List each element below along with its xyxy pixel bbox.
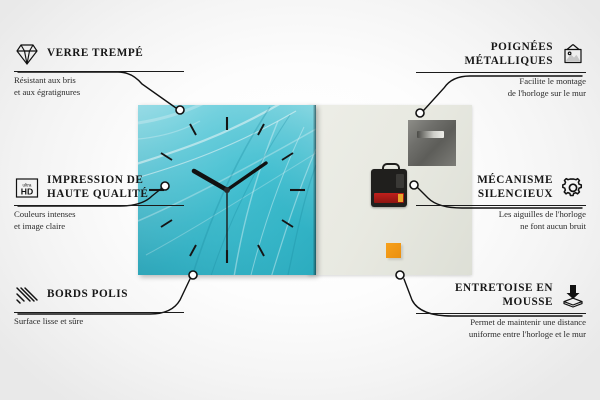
feature-impression-hd[interactable]: ultra HD IMPRESSION DE HAUTE QUALITÉ Cou… [14,174,184,232]
feature-subtitle: Résistant aux bris et aux égratignures [14,75,184,98]
feature-subtitle: Permet de maintenir une distance uniform… [416,317,586,340]
divider [14,71,184,72]
connector-dot-bords-polis [189,271,197,279]
feature-title: BORDS POLIS [47,288,128,302]
feature-title: ENTRETOISE EN MOUSSE [416,282,553,309]
divider [416,205,586,206]
divider [416,313,586,314]
connector-dot-poignees [416,109,424,117]
feature-subtitle: Facilite le montage de l'horloge sur le … [416,76,586,99]
feature-title: IMPRESSION DE HAUTE QUALITÉ [47,174,184,201]
connector-dot-entretoise [396,271,404,279]
infographic-canvas: VERRE TREMPÉ Résistant aux bris et aux é… [0,0,600,400]
down-arrow [567,285,580,299]
feature-verre-trempe[interactable]: VERRE TREMPÉ Résistant aux bris et aux é… [14,41,184,98]
feature-mecanisme-silencieux[interactable]: MÉCANISME SILENCIEUX Les aiguilles de l'… [416,174,586,232]
feature-entretoise-en-mousse[interactable]: ENTRETOISE EN MOUSSE Permet de maintenir… [416,282,586,340]
divider [416,72,586,73]
divider [14,312,184,313]
feature-title: POIGNÉES MÉTALLIQUES [416,41,553,68]
diamond-icon [14,41,40,67]
divider [14,205,184,206]
ultra-hd-badge-icon: ultra HD [14,175,40,201]
feature-subtitle: Les aiguilles de l'horloge ne font aucun… [416,209,586,232]
gear-icon [560,175,586,201]
foam-spacer-arrow-icon [560,283,586,309]
picture-hanger-icon [560,42,586,68]
feature-poignees-metalliques[interactable]: POIGNÉES MÉTALLIQUES Facilite le montage… [416,41,586,99]
feature-title: MÉCANISME SILENCIEUX [416,174,553,201]
feature-subtitle: Couleurs intenses et image claire [14,209,184,232]
connector-dot-verre-trempe [176,106,184,114]
feature-title: VERRE TREMPÉ [47,47,143,61]
polished-edge-icon [14,282,40,308]
svg-text:HD: HD [21,186,33,196]
feature-subtitle: Surface lisse et sûre [14,316,184,328]
feature-bords-polis[interactable]: BORDS POLIS Surface lisse et sûre [14,282,184,328]
